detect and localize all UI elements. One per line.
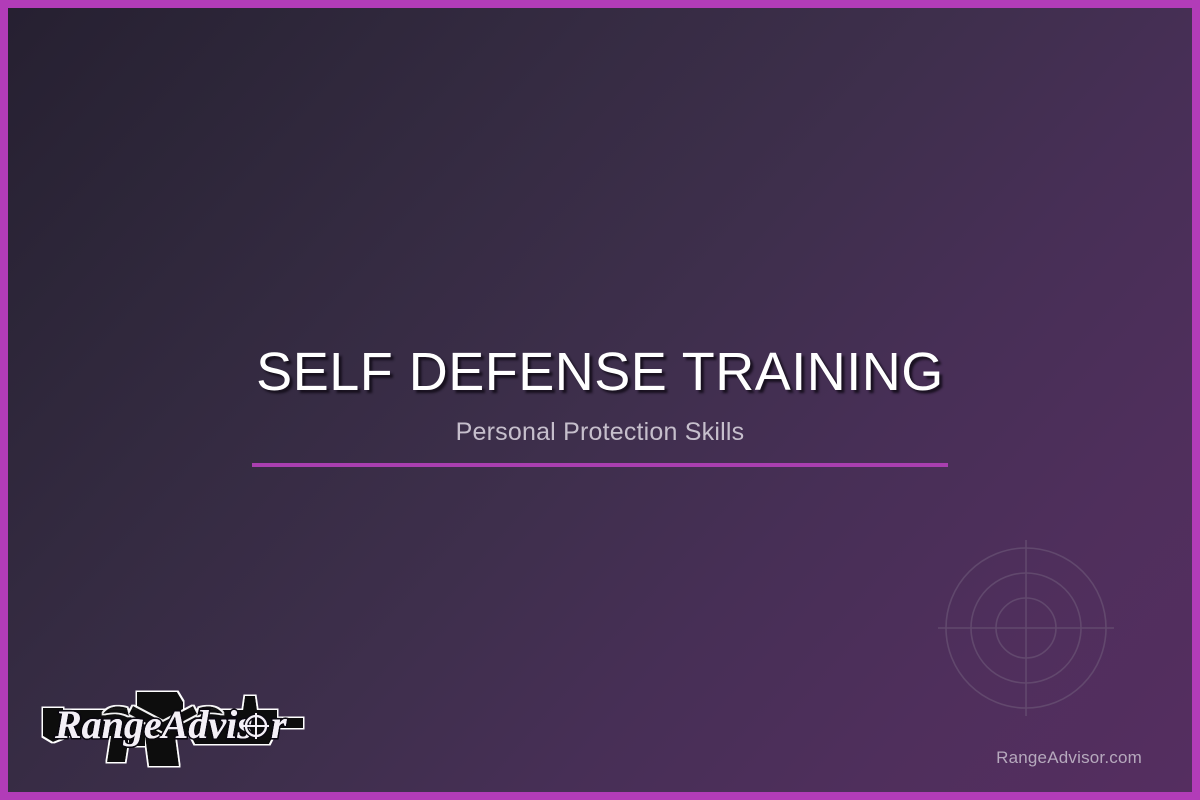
svg-text:r: r bbox=[271, 702, 287, 747]
title-divider bbox=[252, 463, 948, 467]
slide-canvas: SELF DEFENSE TRAINING Personal Protectio… bbox=[8, 8, 1192, 792]
title-block: SELF DEFENSE TRAINING Personal Protectio… bbox=[8, 344, 1192, 467]
footer-website-url: RangeAdvisor.com bbox=[996, 748, 1142, 768]
brand-logo: RangeAdvis RangeAdvis r r bbox=[41, 680, 313, 772]
svg-text:RangeAdvis: RangeAdvis bbox=[54, 702, 253, 747]
page-title: SELF DEFENSE TRAINING bbox=[8, 344, 1192, 401]
presentation-slide: SELF DEFENSE TRAINING Personal Protectio… bbox=[0, 0, 1200, 800]
brand-wordmark: RangeAdvis RangeAdvis r r bbox=[54, 702, 287, 747]
crosshair-target-icon bbox=[930, 532, 1122, 724]
page-subtitle: Personal Protection Skills bbox=[8, 401, 1192, 447]
